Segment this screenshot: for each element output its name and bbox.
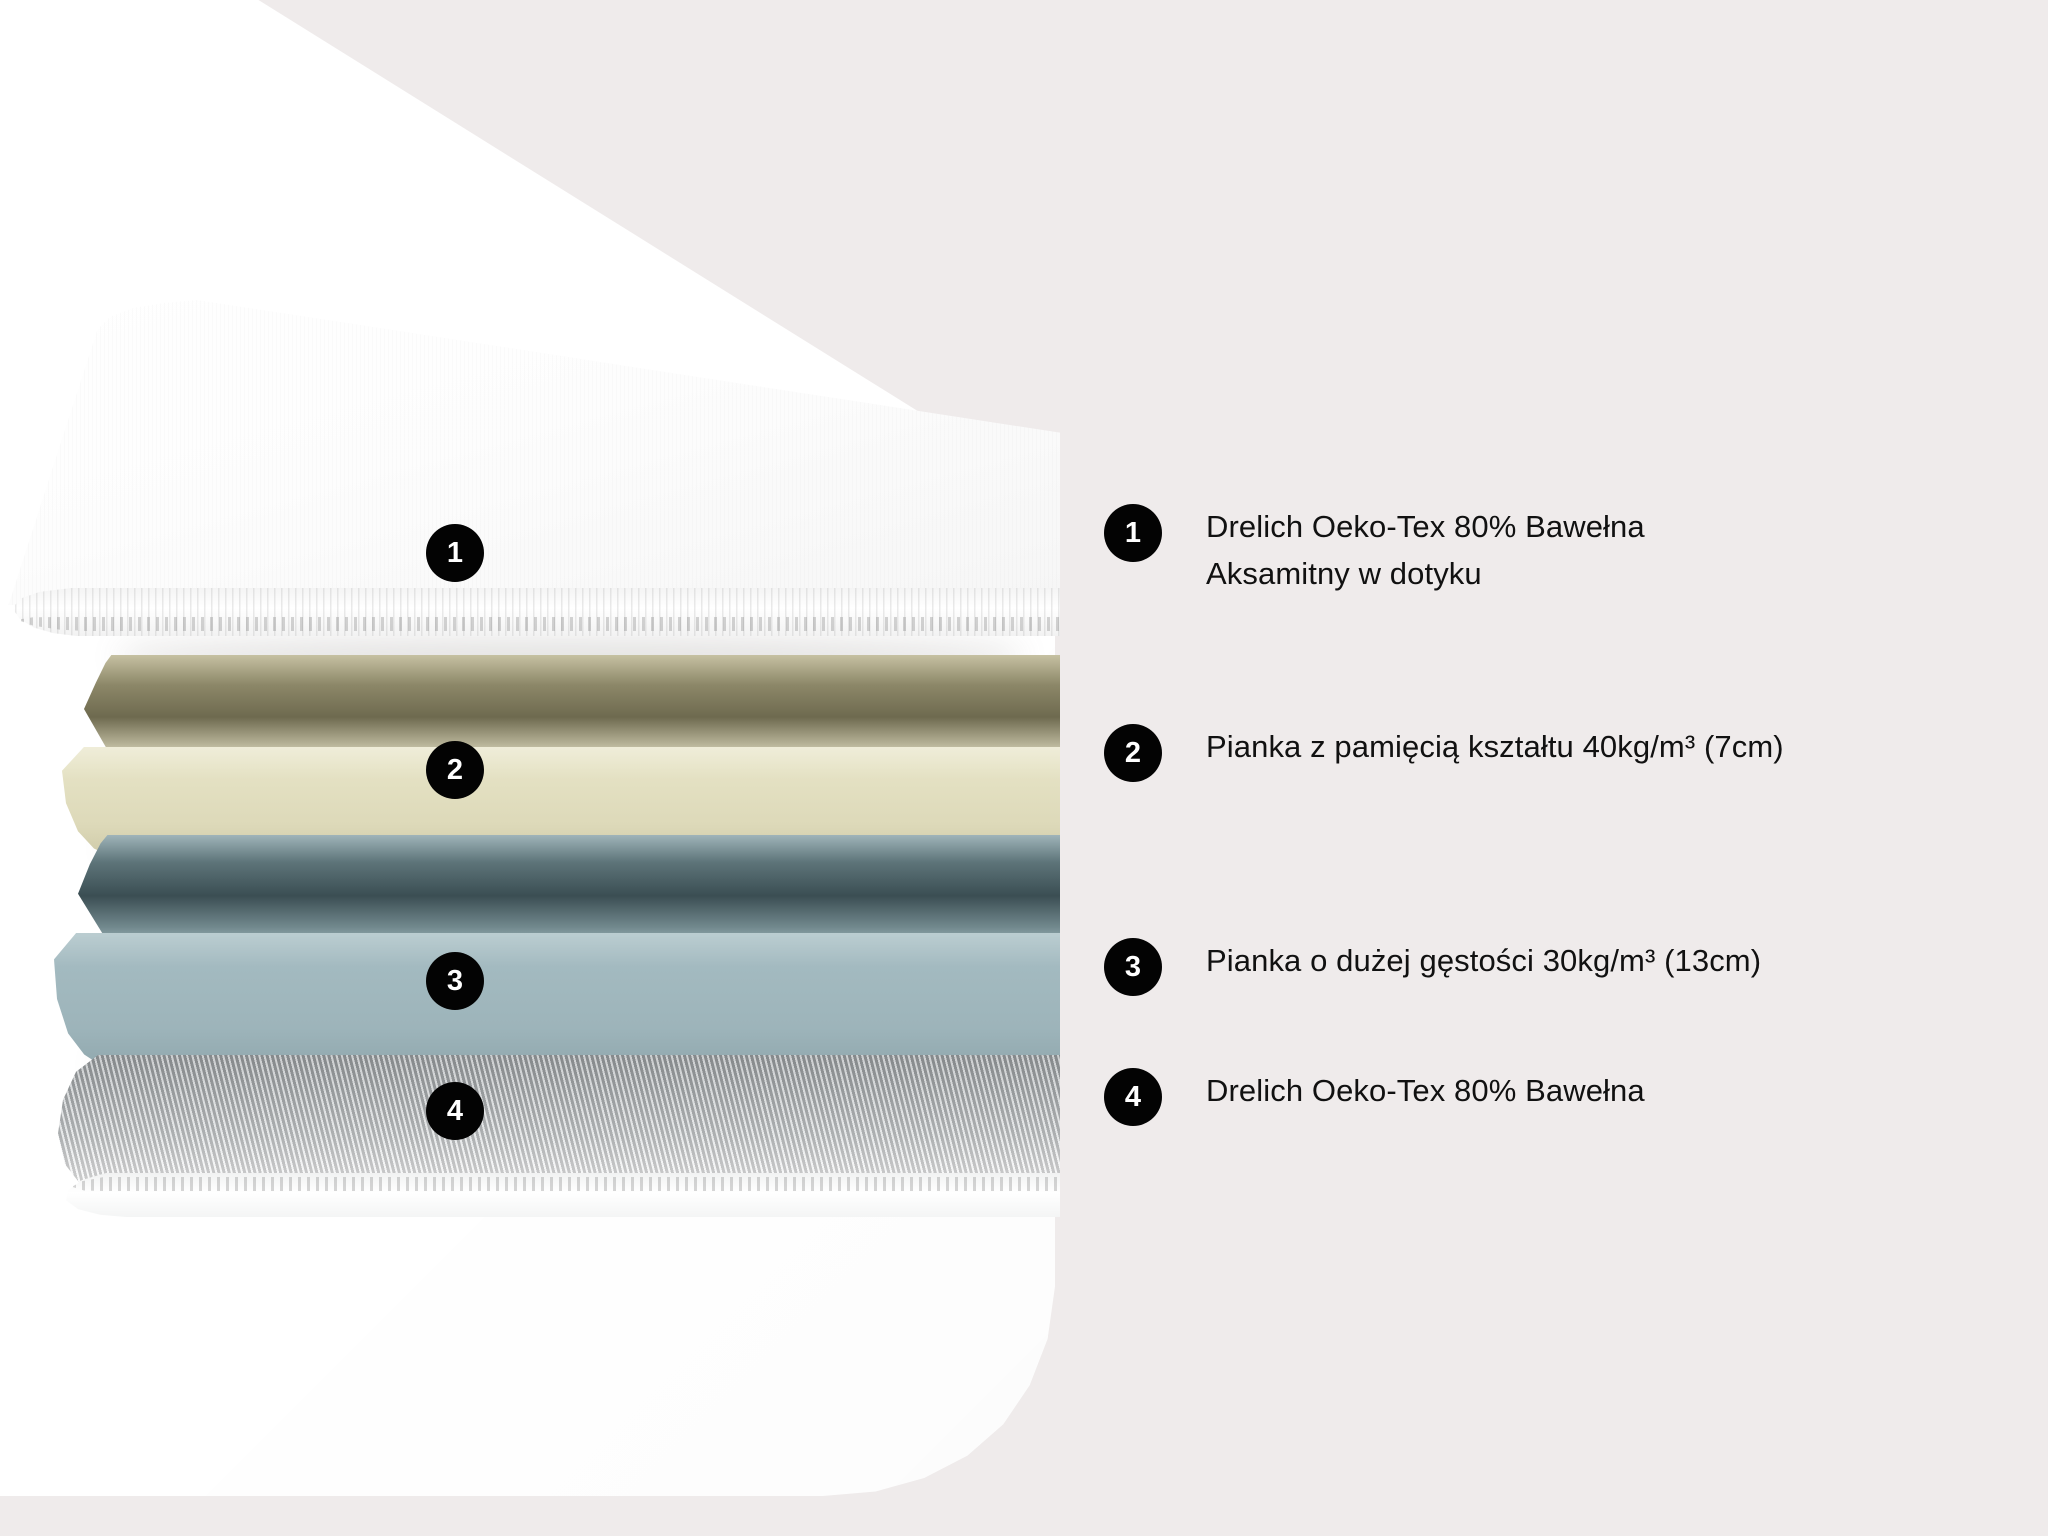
legend-badge-2: 2 xyxy=(1104,724,1162,782)
legend-label-4: Drelich Oeko-Tex 80% Bawełna xyxy=(1206,1066,1645,1114)
image-badge-2: 2 xyxy=(426,741,484,799)
infographic-canvas: 1 2 3 4 1 Drelich Oeko-Tex 80% Bawełna A… xyxy=(0,0,2048,1536)
legend-label-3: Pianka o dużej gęstości 30kg/m³ (13cm) xyxy=(1206,936,1761,984)
layer-3-front-face xyxy=(54,933,1060,1065)
legend-badge-4: 4 xyxy=(1104,1068,1162,1126)
layer-1-stitching xyxy=(12,617,1060,631)
mattress-illustration: 1 2 3 4 xyxy=(0,0,1060,1536)
mattress-layer-4-bottom-cover xyxy=(0,1055,1060,1235)
legend-item-4: 4 Drelich Oeko-Tex 80% Bawełna xyxy=(1104,1066,1964,1126)
legend-label-1: Drelich Oeko-Tex 80% Bawełna Aksamitny w… xyxy=(1206,502,1645,597)
image-badge-3: 3 xyxy=(426,952,484,1010)
legend-item-2: 2 Pianka z pamięcią kształtu 40kg/m³ (7c… xyxy=(1104,722,1964,782)
layer-1-top-surface xyxy=(0,300,1060,605)
legend-label-2: Pianka z pamięcią kształtu 40kg/m³ (7cm) xyxy=(1206,722,1784,770)
legend-badge-1: 1 xyxy=(1104,504,1162,562)
legend-badge-3: 3 xyxy=(1104,938,1162,996)
mattress-layer-1-top-cover xyxy=(0,300,1060,660)
layer-4-stitching xyxy=(64,1177,1060,1191)
image-badge-4: 4 xyxy=(426,1082,484,1140)
legend-item-3: 3 Pianka o dużej gęstości 30kg/m³ (13cm) xyxy=(1104,936,1964,996)
layer-3-top-bevel xyxy=(78,835,1060,940)
legend-item-1: 1 Drelich Oeko-Tex 80% Bawełna Aksamitny… xyxy=(1104,502,1964,597)
mattress-layer-2-memory-foam xyxy=(0,655,1060,860)
layer-2-top-bevel xyxy=(84,655,1060,755)
image-badge-1: 1 xyxy=(426,524,484,582)
